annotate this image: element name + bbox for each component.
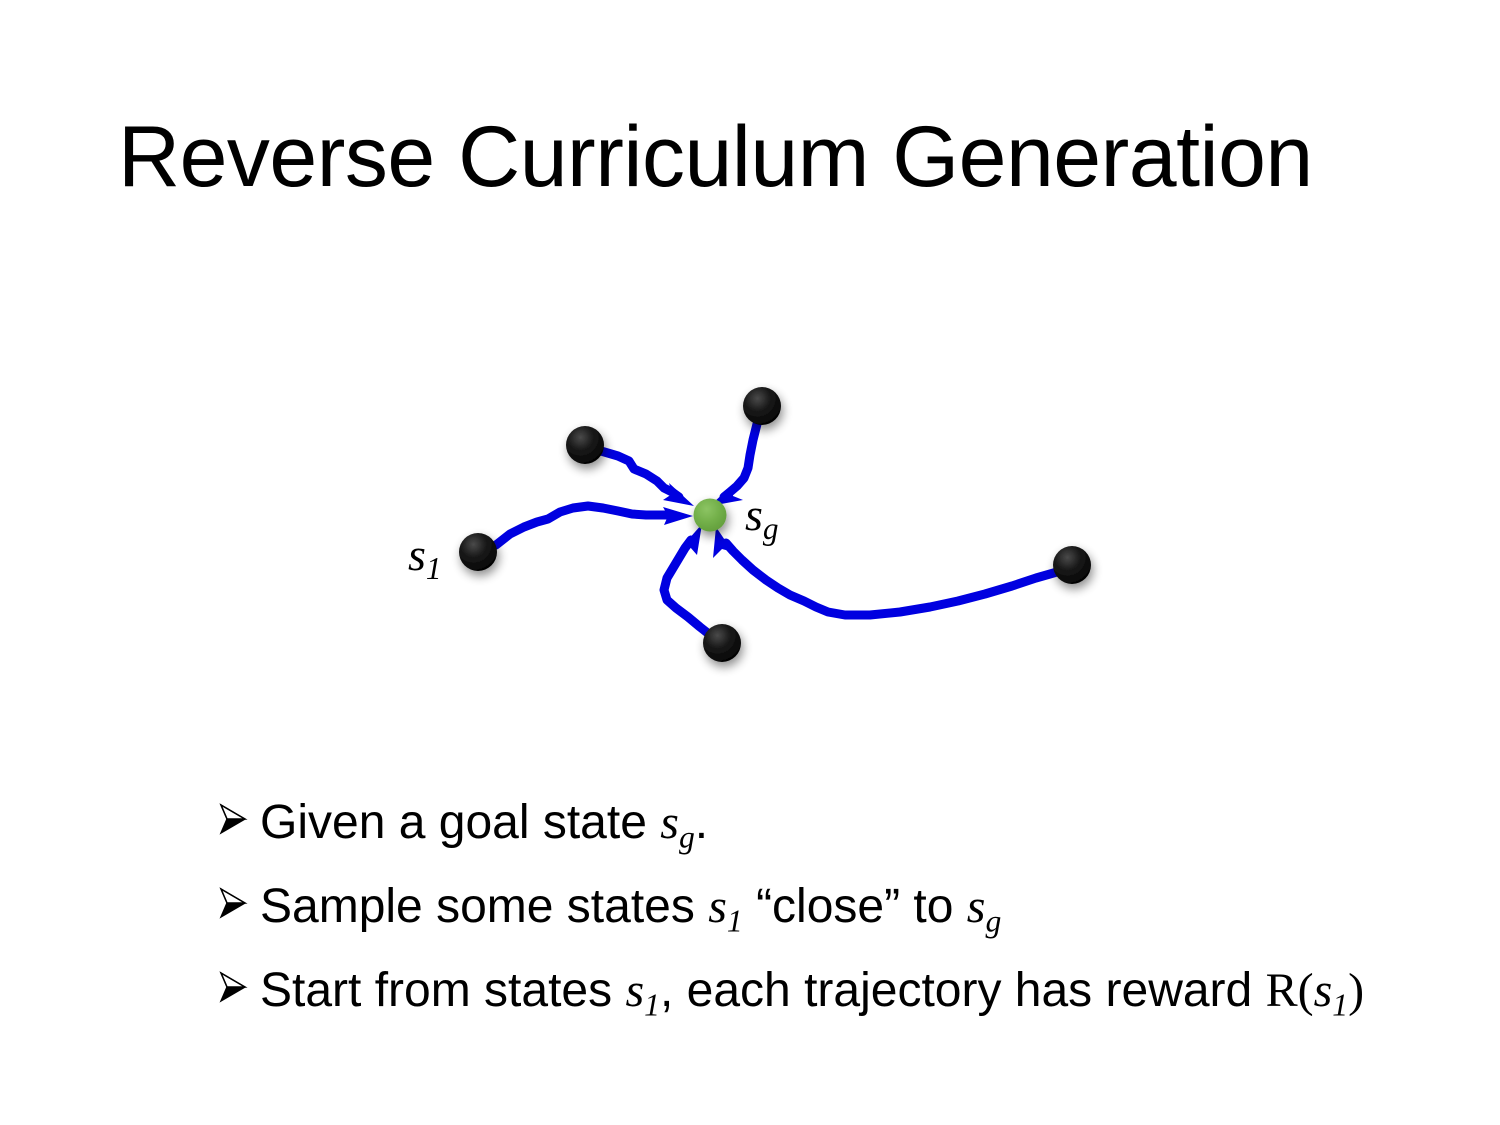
trajectory-path-upper-left <box>601 451 679 497</box>
bullet-text-2: Sample some states s1 “close” to sg <box>260 879 1001 940</box>
trajectory-path-s1 <box>496 506 670 545</box>
s1-label-base: s <box>408 529 426 580</box>
bullet-text-3: Start from states s1, each trajectory ha… <box>260 963 1364 1024</box>
goal-node <box>694 499 727 532</box>
sg-label-subscript: g <box>763 511 779 546</box>
bullet-item-start-from-states: Start from states s1, each trajectory ha… <box>218 963 1448 1047</box>
trajectory-path-bottom <box>664 540 714 638</box>
start-node-upper-left <box>566 426 604 464</box>
sg-label-base: s <box>745 489 763 540</box>
trajectory-path-right <box>726 543 1057 615</box>
start-node-right <box>1053 546 1091 584</box>
bullet-item-given-goal-state: Given a goal state sg. <box>218 795 1448 879</box>
bullet-text-1: Given a goal state sg. <box>260 795 708 856</box>
arrowhead-bullet-icon <box>218 970 256 1004</box>
bullet-item-sample-states: Sample some states s1 “close” to sg <box>218 879 1448 963</box>
bullet-list: Given a goal state sg. Sample some state… <box>218 795 1448 1047</box>
start-node-left-s1 <box>459 533 497 571</box>
goal-state-label-sg: sg <box>745 488 779 547</box>
start-node-top <box>743 387 781 425</box>
s1-label-subscript: 1 <box>426 551 442 586</box>
arrowhead-bullet-icon <box>218 886 256 920</box>
slide-canvas: Reverse Curriculum Generation <box>0 0 1500 1125</box>
arrowhead-bullet-icon <box>218 802 256 836</box>
start-node-bottom <box>703 624 741 662</box>
page-title: Reverse Curriculum Generation <box>118 112 1398 202</box>
start-state-label-s1: s1 <box>408 528 442 587</box>
trajectory-path-top <box>724 424 757 497</box>
